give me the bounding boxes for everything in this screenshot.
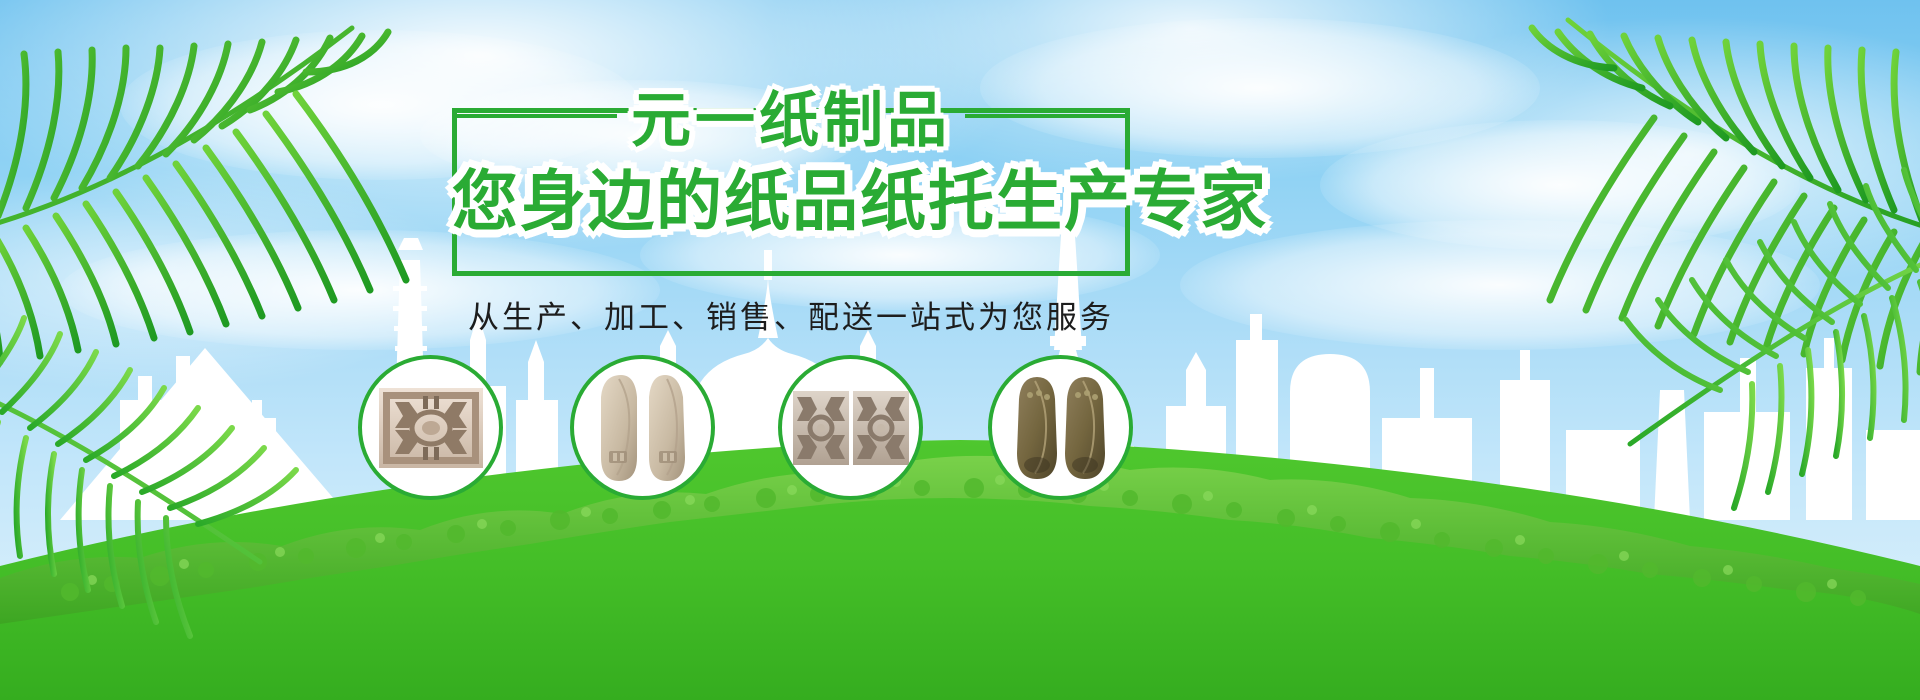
product-circle[interactable] — [778, 355, 923, 500]
tagline-text: 从生产、加工、销售、配送一站式为您服务 — [452, 292, 1130, 337]
title-row: 元一纸制品 — [452, 72, 1130, 159]
molded-pulp-shoe-insole-pair-image — [597, 369, 689, 487]
product-circle[interactable] — [988, 355, 1133, 500]
molded-pulp-tray-square-image — [379, 388, 483, 468]
molded-pulp-shoe-form-pair-image — [1013, 373, 1109, 483]
promotional-banner: 元一纸制品 您身边的纸品纸托生产专家 从生产、加工、销售、配送一站式为您服务 — [0, 0, 1920, 700]
headline-block: 元一纸制品 您身边的纸品纸托生产专家 — [452, 108, 1130, 276]
product-circle[interactable] — [570, 355, 715, 500]
product-circle[interactable] — [358, 355, 503, 500]
molded-pulp-tray-double-image — [793, 391, 909, 465]
title-rule-right — [965, 114, 1130, 118]
page-title: 元一纸制品 — [631, 72, 951, 159]
title-rule-left — [452, 114, 617, 118]
product-circle-row — [0, 355, 1920, 535]
page-subtitle: 您身边的纸品纸托生产专家 — [452, 148, 1130, 244]
